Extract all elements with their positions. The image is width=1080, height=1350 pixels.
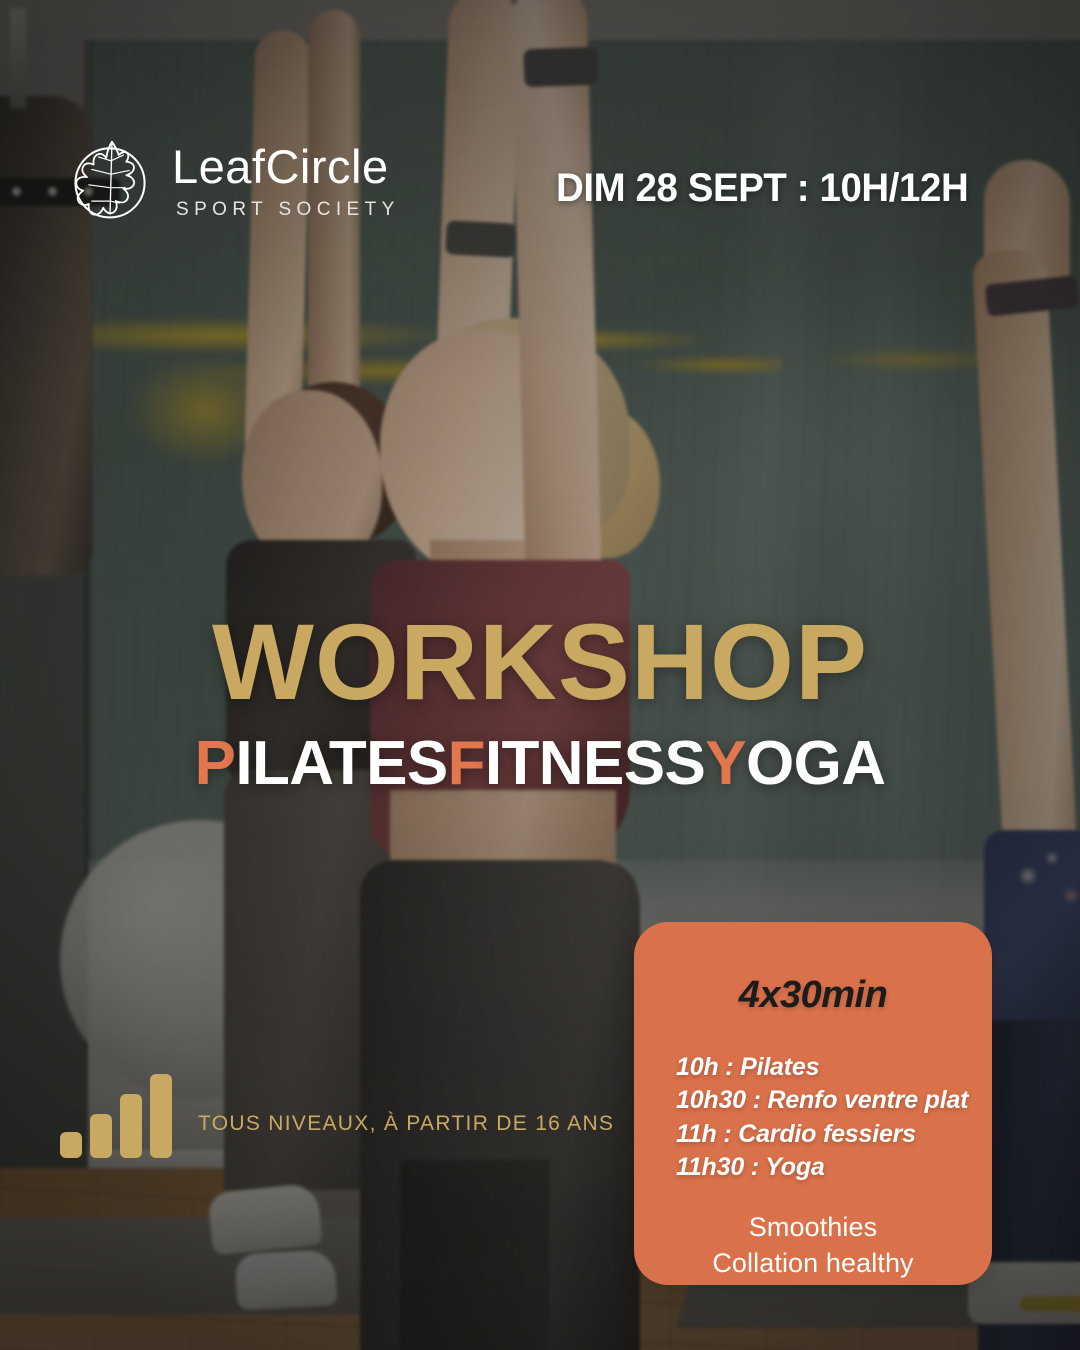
signal-bar-4 — [150, 1074, 172, 1158]
discipline-initial: F — [448, 729, 485, 798]
workshop-poster: LeafCircle SPORT SOCIETY DIM 28 SEPT : 1… — [0, 0, 1080, 1350]
schedule-item: 11h : Cardio fessiers — [676, 1118, 970, 1151]
schedule-item: 11h30 : Yoga — [676, 1151, 970, 1184]
discipline-rest: ITNESS — [485, 729, 705, 798]
discipline-pilates: PILATES — [195, 729, 448, 798]
event-date-time: DIM 28 SEPT : 10H/12H — [556, 166, 968, 211]
discipline-fitness: FITNESS — [448, 729, 706, 798]
brand-logo: LeafCircle SPORT SOCIETY — [62, 132, 400, 228]
schedule-item: 10h30 : Renfo ventre plat — [676, 1084, 970, 1117]
disciplines-line: PILATESFITNESSYOGA — [0, 733, 1080, 795]
discipline-rest: OGA — [746, 729, 885, 798]
extra-item: Collation healthy — [656, 1246, 970, 1282]
levels-row: TOUS NIVEAUX, À PARTIR DE 16 ANS — [60, 1074, 614, 1158]
discipline-initial: Y — [705, 729, 746, 798]
signal-bar-2 — [90, 1114, 112, 1158]
signal-bars-icon — [60, 1074, 172, 1158]
signal-bar-1 — [60, 1132, 82, 1158]
discipline-yoga: YOGA — [705, 729, 885, 798]
card-extras: Smoothies Collation healthy — [656, 1210, 970, 1281]
brand-name: LeafCircle — [172, 143, 400, 190]
discipline-initial: P — [195, 729, 236, 798]
card-title: 4x30min — [656, 974, 970, 1017]
extra-item: Smoothies — [656, 1210, 970, 1246]
schedule-list: 10h : Pilates 10h30 : Renfo ventre plat … — [656, 1051, 970, 1184]
levels-label: TOUS NIVEAUX, À PARTIR DE 16 ANS — [198, 1112, 614, 1158]
headline-block: WORKSHOP PILATESFITNESSYOGA — [0, 612, 1080, 795]
poster-content: LeafCircle SPORT SOCIETY DIM 28 SEPT : 1… — [0, 0, 1080, 1350]
brand-tagline: SPORT SOCIETY — [176, 199, 400, 221]
signal-bar-3 — [120, 1094, 142, 1158]
schedule-item: 10h : Pilates — [676, 1051, 970, 1084]
discipline-rest: ILATES — [235, 729, 447, 798]
leaf-in-circle-icon — [62, 132, 158, 228]
schedule-card: 4x30min 10h : Pilates 10h30 : Renfo vent… — [634, 922, 992, 1285]
page-title: WORKSHOP — [0, 612, 1080, 711]
